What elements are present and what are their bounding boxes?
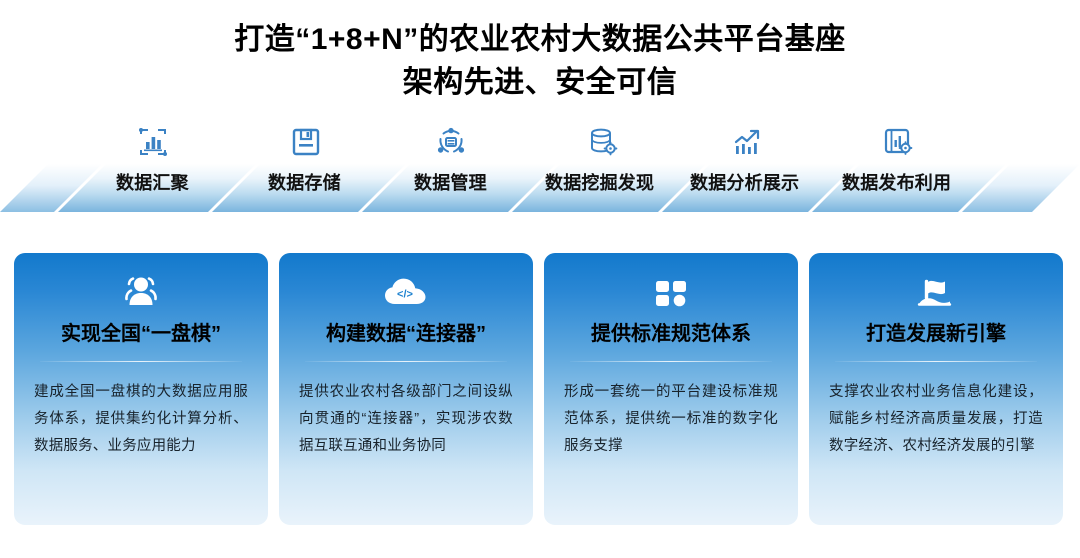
process-step-label-5[interactable]: 数据分析展示 (690, 169, 799, 195)
trending-up-bars-icon (726, 122, 770, 162)
card-divider (40, 361, 241, 362)
feature-card-body-1: 建成全国一盘棋的大数据应用服务体系，提供集约化计算分析、数据服务、业务应用能力 (34, 379, 248, 460)
card-divider (835, 361, 1036, 362)
bar-chart-frame-icon (131, 122, 175, 162)
process-icon-row (0, 122, 1080, 166)
process-step-label-6[interactable]: 数据发布利用 (842, 169, 951, 195)
page-title: 打造“1+8+N”的农业农村大数据公共平台基座 架构先进、安全可信 (0, 0, 1080, 104)
process-ribbon: 数据汇聚 数据存储 数据管理 数据挖掘发现 数据分析展示 数据发布利用 (0, 122, 1080, 202)
feature-card-3[interactable]: 提供标准规范体系 形成一套统一的平台建设标准规范体系，提供统一标准的数字化服务支… (544, 253, 798, 525)
feature-card-body-2: 提供农业农村各级部门之间设纵向贯通的“连接器”，实现涉农数据互联互通和业务协同 (299, 379, 513, 460)
feature-card-4[interactable]: 打造发展新引擎 支撑农业农村业务信息化建设，赋能乡村经济高质量发展，打造数字经济… (809, 253, 1063, 525)
flag-icon (829, 273, 1043, 313)
feature-card-title-2: 构建数据“连接器” (299, 321, 513, 347)
cloud-code-icon: </> (299, 273, 513, 313)
report-gear-icon (876, 122, 920, 162)
feature-card-body-3: 形成一套统一的平台建设标准规范体系，提供统一标准的数字化服务支撑 (564, 379, 778, 460)
process-step-label-1[interactable]: 数据汇聚 (116, 169, 189, 195)
feature-card-title-4: 打造发展新引擎 (829, 321, 1043, 347)
title-line-2: 架构先进、安全可信 (0, 61, 1080, 104)
feature-card-body-4: 支撑农业农村业务信息化建设，赋能乡村经济高质量发展，打造数字经济、农村经济发展的… (829, 379, 1043, 460)
process-step-label-2[interactable]: 数据存储 (268, 169, 341, 195)
feature-card-title-1: 实现全国“一盘棋” (34, 321, 248, 347)
feature-card-1[interactable]: 实现全国“一盘棋” 建成全国一盘棋的大数据应用服务体系，提供集约化计算分析、数据… (14, 253, 268, 525)
network-nodes-icon (429, 122, 473, 162)
floppy-disk-save-icon (284, 122, 328, 162)
process-step-label-4[interactable]: 数据挖掘发现 (545, 169, 654, 195)
grid-blocks-icon (564, 273, 778, 313)
process-label-row: 数据汇聚 数据存储 数据管理 数据挖掘发现 数据分析展示 数据发布利用 (0, 164, 1080, 212)
users-group-icon (34, 273, 248, 313)
feature-card-row: 实现全国“一盘棋” 建成全国一盘棋的大数据应用服务体系，提供集约化计算分析、数据… (14, 253, 1066, 525)
svg-text:</>: </> (397, 289, 413, 301)
feature-card-2[interactable]: </> 构建数据“连接器” 提供农业农村各级部门之间设纵向贯通的“连接器”，实现… (279, 253, 533, 525)
database-gear-icon (581, 122, 625, 162)
feature-card-title-3: 提供标准规范体系 (564, 321, 778, 347)
card-divider (570, 361, 771, 362)
title-line-1: 打造“1+8+N”的农业农村大数据公共平台基座 (0, 18, 1080, 61)
process-step-label-3[interactable]: 数据管理 (414, 169, 487, 195)
card-divider (305, 361, 506, 362)
